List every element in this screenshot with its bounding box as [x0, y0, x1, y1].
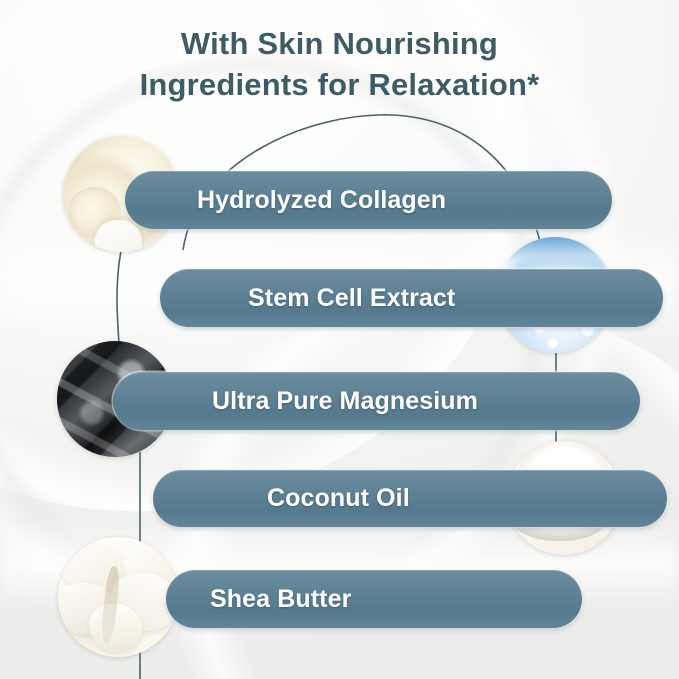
page-title: With Skin Nourishing Ingredients for Rel…	[0, 24, 679, 106]
ingredient-label: Hydrolyzed Collagen	[197, 186, 446, 215]
ingredient-label: Coconut Oil	[267, 484, 410, 513]
ingredient-pill-ultra-pure-magnesium[interactable]: Ultra Pure Magnesium	[113, 372, 640, 430]
ingredient-label: Stem Cell Extract	[248, 284, 455, 313]
page-title-line-1: With Skin Nourishing	[0, 24, 679, 65]
ingredient-pill-stem-cell-extract[interactable]: Stem Cell Extract	[160, 269, 663, 327]
ingredient-pill-coconut-oil[interactable]: Coconut Oil	[153, 470, 667, 527]
ingredient-label: Ultra Pure Magnesium	[212, 387, 478, 416]
ingredient-pill-shea-butter[interactable]: Shea Butter	[166, 570, 582, 628]
infographic-canvas: Hydrolyzed Collagen Stem Cell Extract Ul…	[0, 0, 679, 679]
ingredient-pill-hydrolyzed-collagen[interactable]: Hydrolyzed Collagen	[125, 171, 612, 229]
page-title-line-2: Ingredients for Relaxation*	[0, 65, 679, 106]
shea-butter-photo	[58, 537, 178, 657]
ingredient-label: Shea Butter	[210, 585, 351, 614]
